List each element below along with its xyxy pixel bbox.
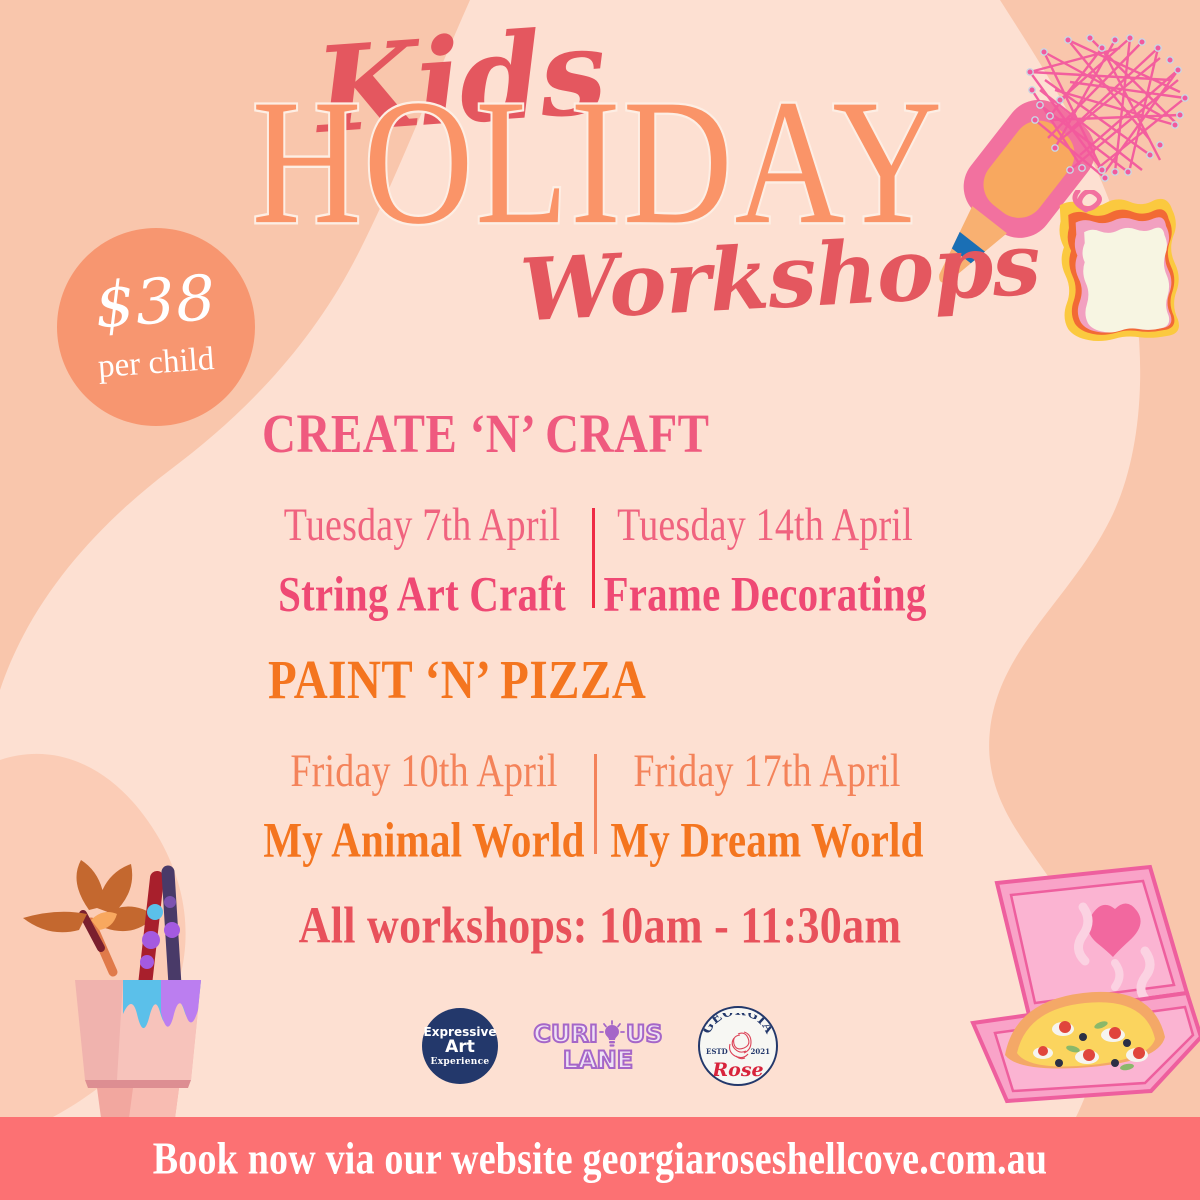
logo-curious-lane[interactable]: CURI US LANE [542, 1008, 654, 1084]
session-card[interactable]: Tuesday 7th April String Art Craft [252, 502, 592, 611]
session-date: Friday 10th April [254, 748, 594, 797]
logo-text-us: US [626, 1023, 663, 1046]
poster-canvas: $38 per child Kids HOLIDAY Workshops CRE… [0, 0, 1200, 1200]
logo-line-art: Art [445, 1039, 475, 1056]
headline: Kids HOLIDAY Workshops [0, 28, 1200, 321]
partner-logos: Expressive Art Experience CURI [0, 1006, 1200, 1086]
section-title-paint-n-pizza: PAINT ‘N’ PIZZA [268, 649, 1200, 712]
session-card[interactable]: Tuesday 14th April Frame Decorating [595, 502, 935, 611]
logo-line-experience: Experience [431, 1058, 490, 1067]
sessions-paint-n-pizza: Friday 10th April My Animal World Friday… [0, 748, 1200, 857]
logo-georgia-rose[interactable]: GEORGIA ESTD 2021 Rose [698, 1006, 778, 1086]
session-name: Frame Decorating [595, 568, 935, 621]
section-title-create-n-craft: CREATE ‘N’ CRAFT [262, 403, 1200, 466]
session-name: My Animal World [254, 814, 594, 867]
footer-booking-text: Book now via our website georgiaroseshel… [153, 1132, 1048, 1185]
session-card[interactable]: Friday 17th April My Dream World [597, 748, 937, 857]
section-create-n-craft: CREATE ‘N’ CRAFT Tuesday 7th April Strin… [0, 412, 1200, 611]
section-paint-n-pizza: PAINT ‘N’ PIZZA Friday 10th April My Ani… [0, 658, 1200, 857]
workshop-times: All workshops: 10am - 11:30am [0, 895, 1200, 955]
logo-text-curi: CURI [533, 1023, 598, 1046]
logo-line-expressive: Expressive [424, 1026, 497, 1038]
logo-text-estd: ESTD [706, 1047, 728, 1056]
sessions-create-n-craft: Tuesday 7th April String Art Craft Tuesd… [0, 502, 1200, 611]
logo-expressive-art-experience[interactable]: Expressive Art Experience [422, 1008, 498, 1084]
session-name: My Dream World [597, 814, 937, 867]
logo-text-lane: LANE [563, 1049, 633, 1072]
session-date: Friday 17th April [597, 748, 937, 797]
logo-text-rose: Rose [700, 1061, 776, 1080]
session-date: Tuesday 7th April [252, 502, 592, 551]
session-card[interactable]: Friday 10th April My Animal World [254, 748, 594, 857]
footer-bar[interactable]: Book now via our website georgiaroseshel… [0, 1117, 1200, 1200]
logo-text-year: 2021 [751, 1047, 770, 1056]
session-date: Tuesday 14th April [595, 502, 935, 551]
session-name: String Art Craft [252, 568, 592, 621]
lightbulb-icon [599, 1020, 625, 1048]
